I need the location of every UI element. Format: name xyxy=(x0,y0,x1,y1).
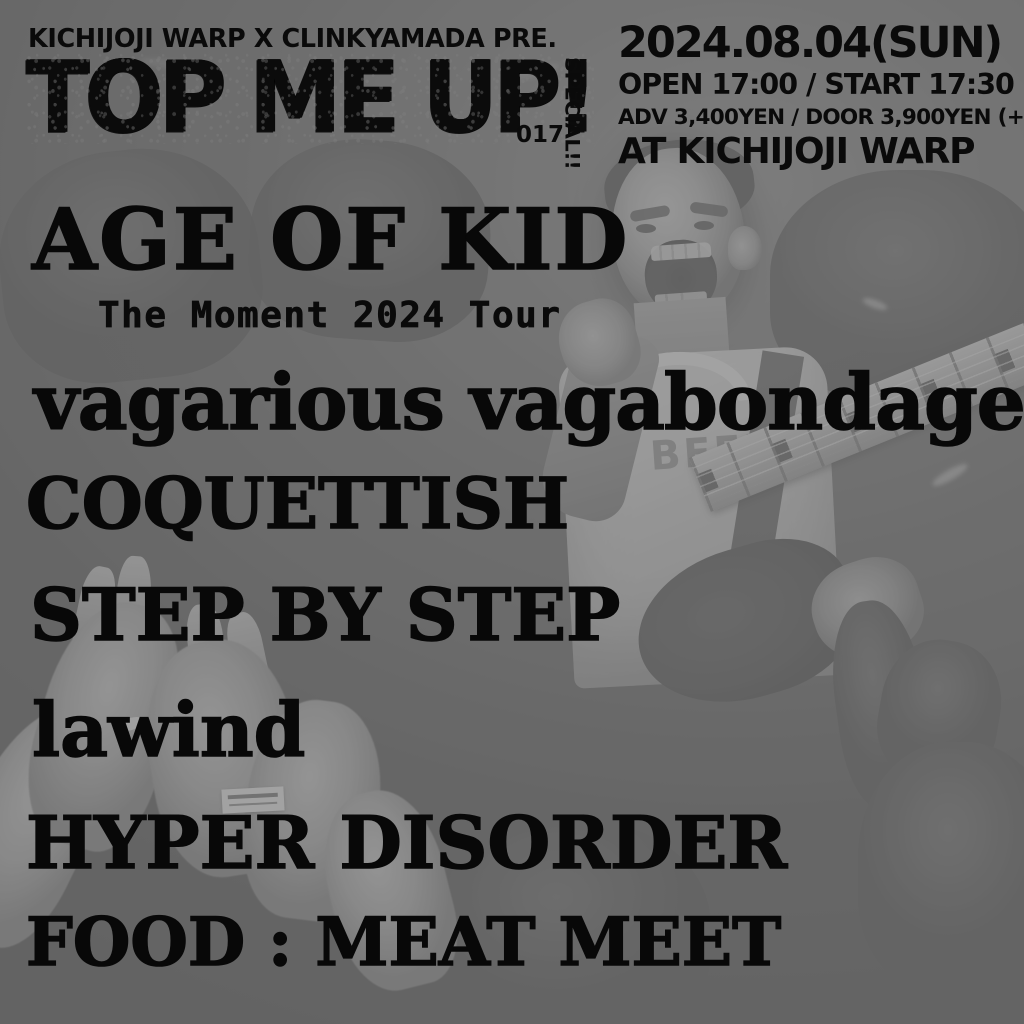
event-times: OPEN 17:00 / START 17:30 xyxy=(618,69,1018,102)
lineup-act: lawind xyxy=(32,688,305,774)
edition-number: 017 xyxy=(516,122,564,148)
concert-flyer: BEER!! KICHIJOJI WARP X xyxy=(0,0,1024,1024)
event-date: 2024.08.04(SUN) xyxy=(618,22,1018,65)
event-logo: TOP ME UP! xyxy=(26,53,594,144)
lineup-act: HYPER DISORDER xyxy=(26,800,787,885)
flyer-text-layer: KICHIJOJI WARP X CLINKYAMADA PRE. TOP ME… xyxy=(0,0,1024,1024)
special-badge: SPECIAL!! xyxy=(561,57,584,161)
lineup-act: vagarious vagabondage xyxy=(34,358,1024,448)
tour-title: The Moment 2024 Tour xyxy=(98,295,561,336)
event-venue: AT KICHIJOJI WARP xyxy=(618,132,1018,172)
lineup-act: STEP BY STEP xyxy=(30,572,620,657)
event-logo-row: TOP ME UP! xyxy=(26,58,594,144)
headliner-name: AGE OF KID xyxy=(32,190,629,289)
ticket-price: ADV 3,400YEN / DOOR 3,900YEN (+1D) xyxy=(618,106,1018,131)
header-right: 2024.08.04(SUN) OPEN 17:00 / START 17:30… xyxy=(618,22,1018,172)
lineup-food-vendor: FOOD : MEAT MEET xyxy=(26,903,781,981)
lineup-act: COQUETTISH xyxy=(26,462,569,545)
